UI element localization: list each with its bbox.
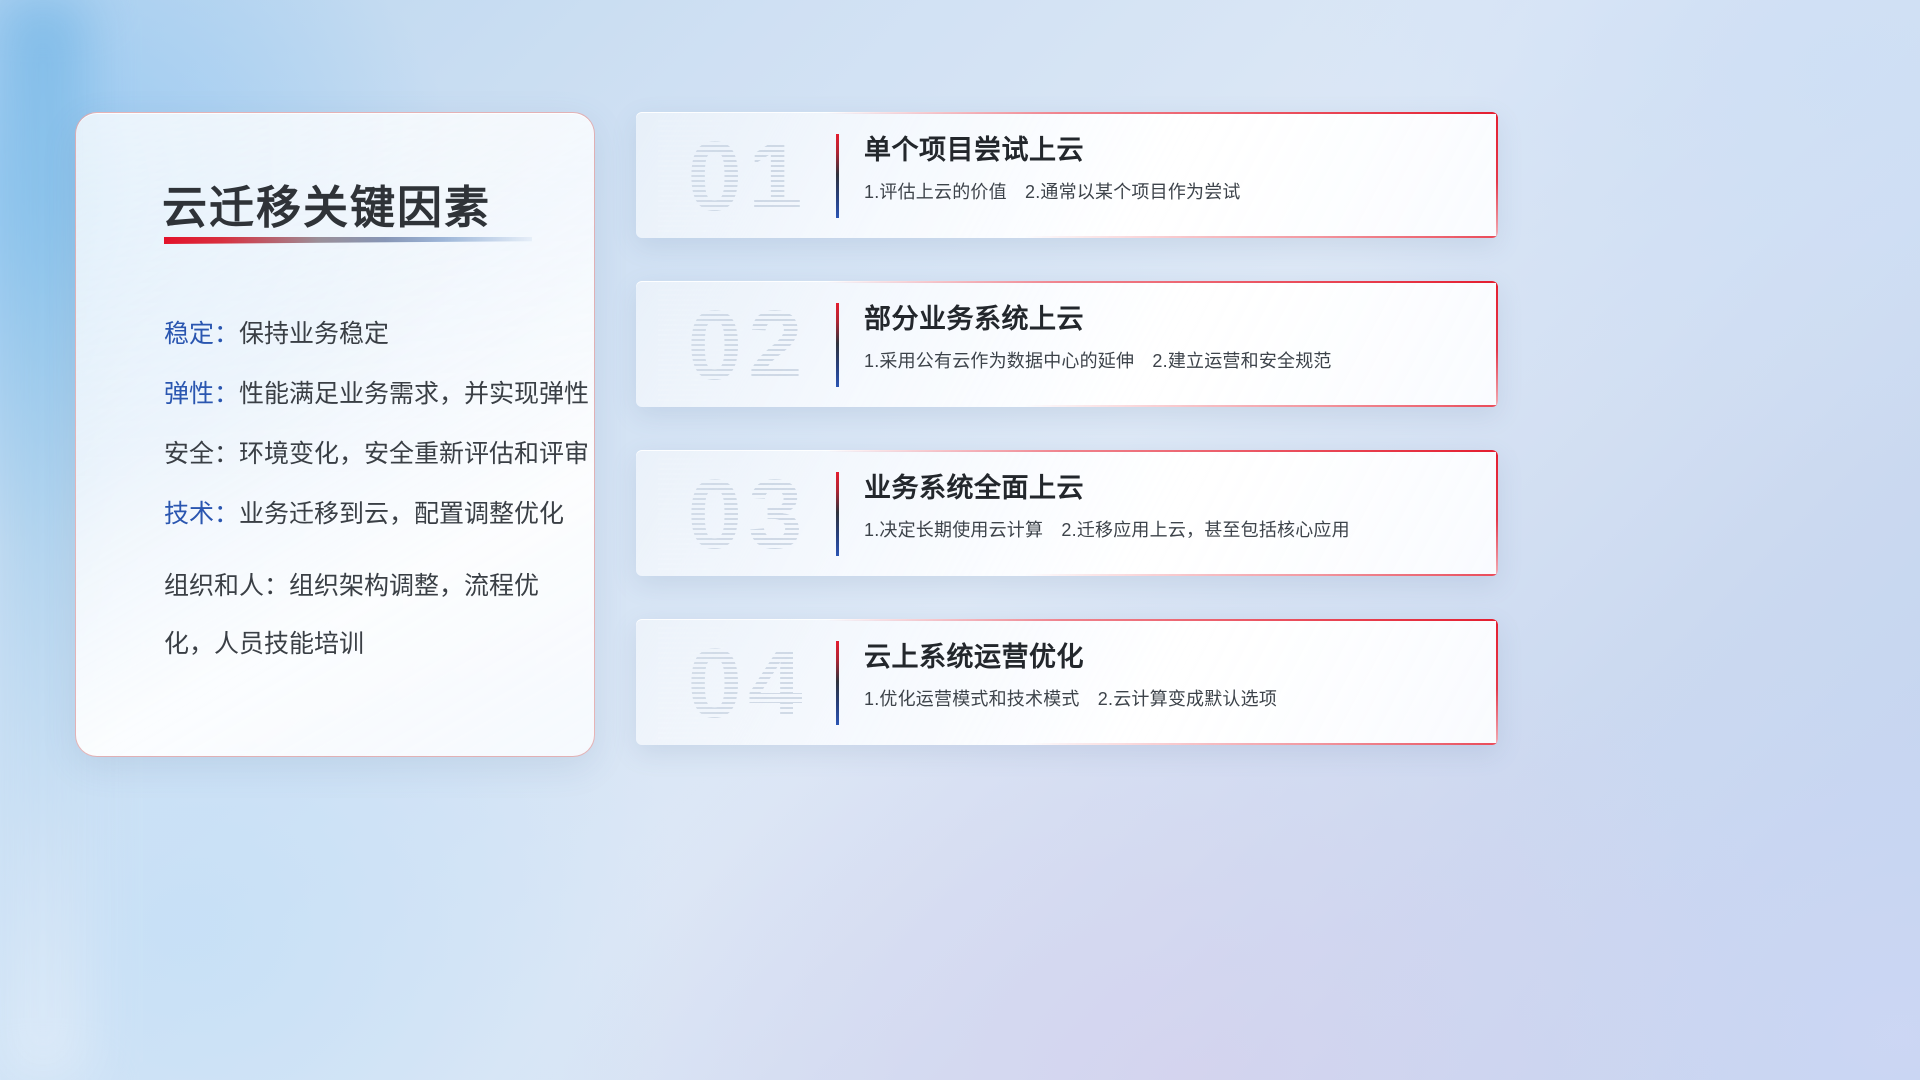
list-item-key: 安全： [164, 440, 239, 468]
list-item: 安全：环境变化，安全重新评估和评审 [164, 437, 564, 471]
list-item-key: 组织和人： [164, 572, 289, 600]
card-accent-right [1496, 281, 1498, 407]
step-body: 单个项目尝试上云 1.评估上云的价值 2.通常以某个项目作为尝试 [864, 130, 1472, 205]
step-body: 云上系统运营优化 1.优化运营模式和技术模式 2.云计算变成默认选项 [864, 637, 1472, 712]
step-number: 04 [658, 627, 838, 739]
step-title: 业务系统全面上云 [864, 468, 1472, 508]
step-title: 部分业务系统上云 [864, 299, 1472, 339]
list-item-value: 环境变化，安全重新评估和评审 [239, 440, 589, 468]
step-divider [836, 472, 839, 556]
title-underline-accent [164, 237, 532, 244]
card-accent-bottom [1024, 574, 1498, 576]
key-factors-panel: 云迁移关键因素 稳定：保持业务稳定 弹性：性能满足业务需求，并实现弹性 安全：环… [75, 112, 595, 757]
step-description: 1.采用公有云作为数据中心的延伸 2.建立运营和安全规范 [864, 348, 1472, 374]
card-accent-right [1496, 450, 1498, 576]
card-accent-bottom [1024, 405, 1498, 407]
page-title: 云迁移关键因素 [162, 171, 491, 236]
card-accent-bottom [1024, 236, 1498, 238]
step-description: 1.评估上云的价值 2.通常以某个项目作为尝试 [864, 179, 1472, 205]
step-card-04[interactable]: 04 云上系统运营优化 1.优化运营模式和技术模式 2.云计算变成默认选项 [636, 619, 1498, 745]
step-number: 01 [658, 120, 838, 232]
step-divider [836, 303, 839, 387]
step-divider [836, 134, 839, 218]
list-item-value: 业务迁移到云，配置调整优化 [239, 500, 564, 528]
list-item: 技术：业务迁移到云，配置调整优化 [164, 497, 564, 531]
list-item-value: 性能满足业务需求，并实现弹性 [239, 380, 589, 408]
step-body: 部分业务系统上云 1.采用公有云作为数据中心的延伸 2.建立运营和安全规范 [864, 299, 1472, 374]
step-number: 03 [658, 458, 838, 570]
step-description: 1.优化运营模式和技术模式 2.云计算变成默认选项 [864, 686, 1472, 712]
card-accent-top [826, 450, 1498, 452]
list-item-key: 技术： [164, 500, 239, 528]
list-item-value: 保持业务稳定 [239, 320, 389, 348]
slide-canvas: 云迁移关键因素 稳定：保持业务稳定 弹性：性能满足业务需求，并实现弹性 安全：环… [0, 0, 1920, 1080]
step-body: 业务系统全面上云 1.决定长期使用云计算 2.迁移应用上云，甚至包括核心应用 [864, 468, 1472, 543]
card-accent-top [826, 281, 1498, 283]
migration-steps-list: 01 单个项目尝试上云 1.评估上云的价值 2.通常以某个项目作为尝试 02 部… [636, 112, 1498, 788]
step-title: 云上系统运营优化 [864, 637, 1472, 677]
card-accent-right [1496, 619, 1498, 745]
card-accent-top [826, 112, 1498, 114]
card-accent-right [1496, 112, 1498, 238]
list-item-key: 稳定： [164, 320, 239, 348]
step-number: 02 [658, 289, 838, 401]
step-description: 1.决定长期使用云计算 2.迁移应用上云，甚至包括核心应用 [864, 517, 1472, 543]
list-item: 组织和人：组织架构调整，流程优化，人员技能培训 [164, 557, 564, 673]
card-accent-bottom [1024, 743, 1498, 745]
step-card-03[interactable]: 03 业务系统全面上云 1.决定长期使用云计算 2.迁移应用上云，甚至包括核心应… [636, 450, 1498, 576]
list-item-key: 弹性： [164, 380, 239, 408]
step-title: 单个项目尝试上云 [864, 130, 1472, 170]
list-item: 弹性：性能满足业务需求，并实现弹性 [164, 377, 564, 411]
card-accent-top [826, 619, 1498, 621]
step-card-02[interactable]: 02 部分业务系统上云 1.采用公有云作为数据中心的延伸 2.建立运营和安全规范 [636, 281, 1498, 407]
step-divider [836, 641, 839, 725]
step-card-01[interactable]: 01 单个项目尝试上云 1.评估上云的价值 2.通常以某个项目作为尝试 [636, 112, 1498, 238]
list-item: 稳定：保持业务稳定 [164, 317, 564, 351]
key-factors-list: 稳定：保持业务稳定 弹性：性能满足业务需求，并实现弹性 安全：环境变化，安全重新… [164, 317, 564, 673]
